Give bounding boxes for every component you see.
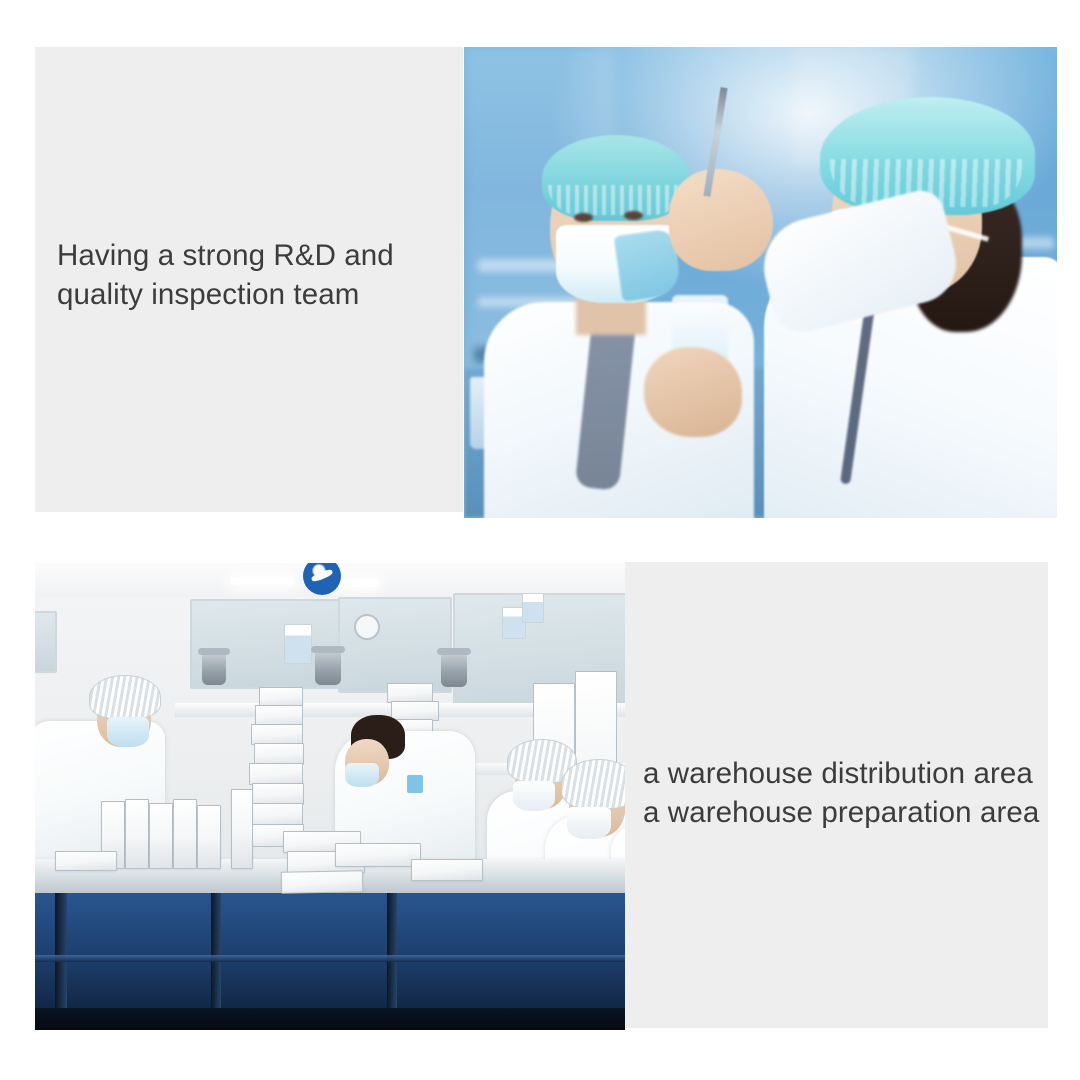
product-carton-3 bbox=[149, 803, 173, 869]
technician-a-eye-right bbox=[624, 211, 643, 220]
caption-rnd-quality: Having a strong R&D and quality inspecti… bbox=[57, 236, 457, 314]
caption-panel-left: Having a strong R&D and quality inspecti… bbox=[35, 47, 463, 512]
lab-scene bbox=[464, 47, 1057, 518]
product-bottle-1 bbox=[231, 789, 253, 869]
wall-notice-1 bbox=[284, 624, 312, 664]
interior-window-2 bbox=[338, 597, 452, 693]
carton-stack-b3 bbox=[251, 724, 303, 745]
caption-panel-right: a warehouse distribution area a warehous… bbox=[625, 562, 1048, 1028]
wall-clock-icon bbox=[354, 614, 380, 640]
flat-carton-4 bbox=[335, 843, 421, 867]
carton-stack-b6 bbox=[252, 783, 304, 805]
product-carton-2 bbox=[125, 799, 149, 869]
table-rail-1 bbox=[35, 955, 625, 962]
carton-stack-b5 bbox=[249, 763, 303, 785]
carton-stack-b2 bbox=[255, 705, 303, 726]
carton-stack-a1 bbox=[387, 683, 433, 703]
worker-1-hairnet bbox=[89, 675, 161, 719]
section-warehouse: a warehouse distribution area a warehous… bbox=[0, 540, 1080, 1080]
product-carton-5 bbox=[197, 805, 221, 869]
steel-pot-2 bbox=[315, 651, 341, 685]
technician-a-hairnet bbox=[542, 135, 690, 221]
steel-pot-1 bbox=[202, 653, 226, 685]
caption-warehouse: a warehouse distribution area a warehous… bbox=[643, 754, 1048, 832]
carton-stack-b1 bbox=[259, 687, 303, 707]
interior-window-3 bbox=[35, 611, 57, 673]
section-rnd-quality: Having a strong R&D and quality inspecti… bbox=[0, 0, 1080, 540]
technician-b-hand bbox=[669, 169, 773, 271]
flat-carton-6 bbox=[55, 851, 117, 871]
ceiling-light-2 bbox=[335, 579, 379, 587]
warehouse-floor bbox=[35, 1008, 625, 1030]
technician-b-lower-hand bbox=[644, 347, 742, 437]
technician-a-eye-left bbox=[574, 213, 593, 222]
wall-notice-3 bbox=[522, 593, 544, 623]
worker-4-hairnet bbox=[561, 759, 625, 809]
product-carton-4 bbox=[173, 799, 197, 869]
warehouse-scene bbox=[35, 563, 625, 1030]
worker-2-badge bbox=[407, 775, 423, 793]
worker-2-mask bbox=[345, 763, 379, 787]
carton-stack-a2 bbox=[391, 701, 439, 721]
warehouse-packing-photo bbox=[35, 563, 625, 1030]
carton-stack-b4 bbox=[254, 743, 304, 765]
worker-1-mask bbox=[107, 717, 149, 747]
ceiling-light-1 bbox=[231, 577, 293, 585]
lab-technicians-photo bbox=[464, 47, 1057, 518]
product-detail-banner: Having a strong R&D and quality inspecti… bbox=[0, 0, 1080, 1080]
steel-pot-3 bbox=[441, 653, 467, 687]
flat-carton-3 bbox=[281, 870, 363, 893]
worker-4-mask bbox=[567, 807, 611, 839]
carton-stack-b7 bbox=[247, 803, 303, 826]
worker-3-mask bbox=[513, 781, 555, 811]
flat-carton-5 bbox=[411, 859, 483, 881]
